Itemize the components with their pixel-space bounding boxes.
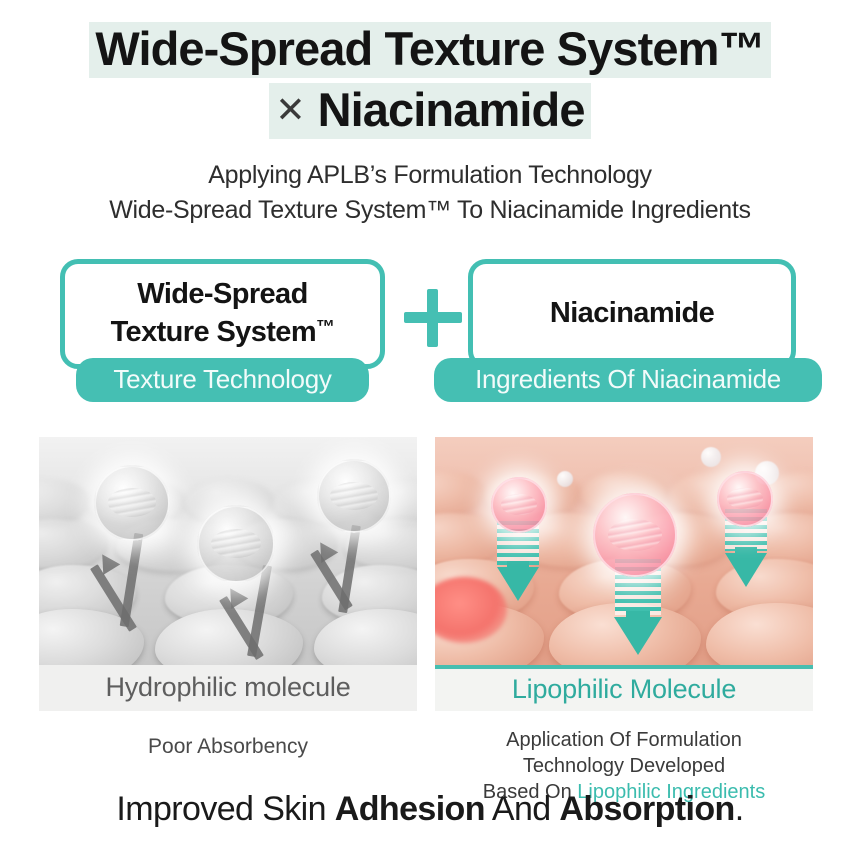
note-lipophilic-line-1: Application Of Formulation: [435, 727, 813, 753]
bubble-small-1: [557, 471, 573, 487]
droplet-core: [211, 529, 261, 559]
footer-middle: And: [485, 790, 560, 828]
lipophilic-droplet-3: [717, 471, 773, 527]
panel-hydrophilic: Hydrophilic molecule Poor Absorbency: [39, 437, 417, 761]
footer-bold-adhesion: Adhesion: [335, 790, 485, 828]
page-title: Wide-Spread Texture System™ ✕Niacinamide: [0, 0, 860, 139]
repel-arrow-3: [319, 525, 379, 629]
lipophilic-droplet-1: [491, 477, 547, 533]
multiply-icon: ✕: [275, 89, 317, 130]
hydrophilic-droplet-3: [317, 459, 391, 533]
concept-row: Wide-Spread Texture System™ Texture Tech…: [0, 251, 860, 421]
absorb-arrow-3-head: [725, 553, 767, 587]
title-line-2: ✕Niacinamide: [0, 83, 860, 139]
droplet-core: [501, 494, 536, 515]
absorb-arrow-1-head: [497, 567, 539, 601]
footer-tagline: Improved Skin Adhesion And Absorption.: [0, 790, 860, 829]
note-lipophilic-line-2: Technology Developed: [435, 753, 813, 779]
panel-lipophilic: Lipophilic Molecule Application Of Formu…: [435, 437, 813, 806]
concept-right-line-1: Niacinamide: [550, 295, 714, 332]
concept-box-right-text: Niacinamide: [550, 295, 714, 332]
bubble-small-2: [701, 447, 721, 467]
droplet-core: [608, 519, 662, 551]
lipophilic-illustration: [435, 437, 813, 665]
concept-left-line-2-wrap: Texture System™: [111, 314, 335, 351]
concept-box-niacinamide: Niacinamide: [468, 259, 796, 369]
concept-left-line-2: Texture System: [111, 316, 316, 348]
repel-arrow-1: [101, 533, 161, 643]
concept-box-left-text: Wide-Spread Texture System™: [111, 276, 335, 350]
concept-box-texture-system: Wide-Spread Texture System™: [60, 259, 385, 369]
title-line-2-text: Niacinamide: [318, 83, 585, 136]
droplet-core: [330, 482, 378, 510]
droplet-core: [108, 488, 157, 517]
hydrophilic-illustration: [39, 437, 417, 665]
concept-left-line-1: Wide-Spread: [111, 276, 335, 313]
caption-lipophilic: Lipophilic Molecule: [435, 665, 813, 711]
subtitle-line-2: Wide-Spread Texture System™ To Niacinami…: [0, 193, 860, 229]
trademark-icon: ™: [316, 317, 334, 338]
droplet-core: [727, 488, 762, 509]
plus-icon: [404, 289, 462, 347]
title-line-1-text: Wide-Spread Texture System™: [89, 22, 770, 78]
title-line-2-group: ✕Niacinamide: [269, 83, 590, 139]
footer-bold-absorption: Absorption: [559, 790, 734, 828]
footer-prefix: Improved Skin: [116, 790, 334, 828]
hydrophilic-droplet-1: [94, 465, 170, 541]
lipophilic-droplet-2: [593, 493, 677, 577]
tag-texture-technology: Texture Technology: [76, 358, 369, 402]
tag-ingredients-of-niacinamide: Ingredients Of Niacinamide: [434, 358, 822, 402]
caption-hydrophilic: Hydrophilic molecule: [39, 665, 417, 711]
note-poor-absorbency: Poor Absorbency: [39, 733, 417, 761]
subtitle: Applying APLB’s Formulation Technology W…: [0, 158, 860, 229]
comparison-panels: Hydrophilic molecule Poor Absorbency: [0, 437, 860, 727]
absorb-arrow-2-head: [614, 617, 662, 655]
subtitle-line-1: Applying APLB’s Formulation Technology: [0, 158, 860, 194]
hydrophilic-droplet-2: [197, 505, 275, 583]
footer-suffix: .: [735, 790, 744, 828]
title-line-1: Wide-Spread Texture System™: [0, 22, 860, 78]
plus-icon-vertical: [427, 289, 438, 347]
